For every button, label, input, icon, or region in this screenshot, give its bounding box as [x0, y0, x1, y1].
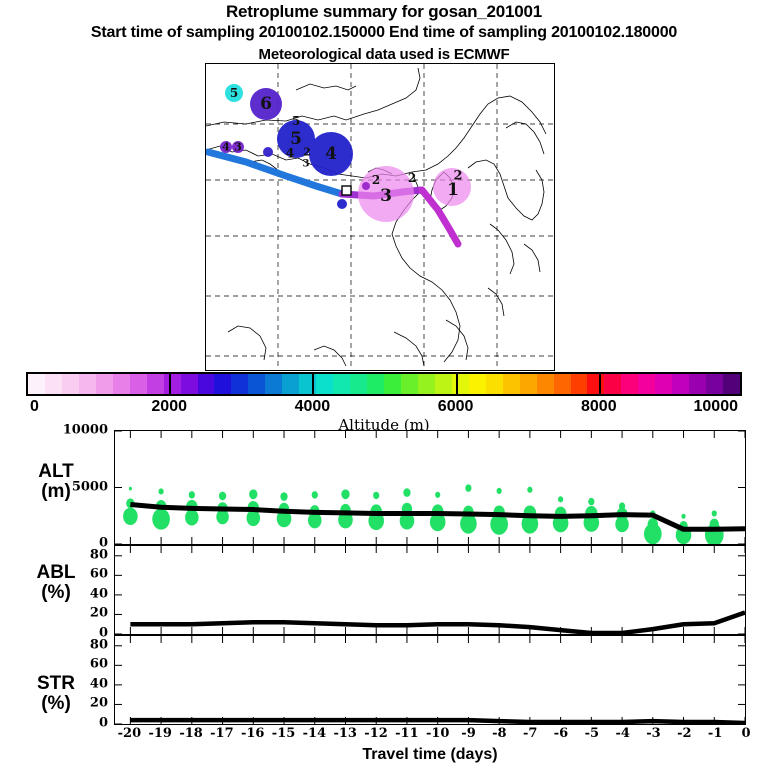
str-panel[interactable]	[114, 635, 746, 725]
y-axis-tick: 80	[48, 637, 108, 652]
colorbar-swatch	[689, 374, 706, 394]
colorbar-swatch	[520, 374, 537, 394]
x-axis-tick: -6	[554, 726, 568, 741]
colorbar-swatch	[198, 374, 215, 394]
x-axis-tick: -4	[615, 726, 629, 741]
svg-text:2: 2	[408, 171, 416, 185]
svg-text:2: 2	[372, 173, 380, 187]
x-axis-tick: -11	[395, 726, 419, 741]
alt-particle-blob	[615, 516, 629, 532]
y-axis-tick: 10000	[48, 423, 108, 438]
colorbar-swatch	[435, 374, 452, 394]
colorbar-swatch	[401, 374, 418, 394]
x-axis-tick: -9	[461, 726, 475, 741]
abl-panel[interactable]	[114, 545, 746, 635]
x-axis-tick: -12	[364, 726, 388, 741]
alt-particle-blob	[129, 487, 132, 491]
y-axis-tick: 0	[48, 716, 108, 731]
page-title: Retroplume summary for gosan_201001	[0, 2, 768, 22]
alt-particle-blob	[219, 492, 226, 501]
colorbar-swatch	[113, 374, 130, 394]
x-axis-tick: 0	[741, 726, 750, 741]
colorbar-swatch	[316, 374, 333, 394]
y-axis-tick: 20	[48, 606, 108, 621]
x-axis-tick: -15	[272, 726, 296, 741]
alt-particle-blob	[644, 523, 662, 544]
colorbar-tick: 4000	[295, 398, 331, 416]
colorbar-swatch	[638, 374, 655, 394]
alt-particle-blob	[280, 492, 287, 501]
colorbar-swatch	[604, 374, 621, 394]
svg-text:4: 4	[325, 144, 337, 164]
x-axis-tick: -10	[426, 726, 450, 741]
colorbar-swatch	[486, 374, 503, 394]
svg-text:2: 2	[303, 146, 311, 159]
alt-particle-blob	[460, 514, 477, 534]
x-axis-tick: -8	[492, 726, 506, 741]
x-axis-tick: -13	[333, 726, 357, 741]
svg-text:6: 6	[260, 94, 272, 114]
colorbar-swatch	[655, 374, 672, 394]
colorbar-swatch	[672, 374, 689, 394]
colorbar-swatch	[469, 374, 486, 394]
colorbar-swatch	[333, 374, 350, 394]
x-axis-label: Travel time (days)	[114, 746, 746, 764]
svg-text:3: 3	[380, 186, 392, 206]
colorbar-swatch	[503, 374, 520, 394]
abl-plot	[115, 546, 745, 634]
colorbar-tick: 2000	[151, 398, 187, 416]
colorbar-swatch	[621, 374, 638, 394]
alt-particle-blob	[465, 484, 471, 491]
alt-particle-blob	[189, 491, 195, 498]
alt-particle-blob	[373, 492, 379, 499]
map-graphics: 1 2 3 4 5 6 5 4 3 4 2 3 5 2 2	[206, 64, 553, 369]
colorbar-swatch	[28, 374, 45, 394]
y-axis-tick: 40	[48, 586, 108, 601]
alt-particle-blob	[527, 487, 532, 493]
colorbar-swatch	[265, 374, 282, 394]
colorbar-tick: 0	[30, 398, 39, 416]
x-axis-tick: -1	[708, 726, 722, 741]
colorbar-swatch	[45, 374, 62, 394]
colorbar-swatch	[554, 374, 571, 394]
alt-particle-blob	[249, 489, 257, 499]
alt-particle-blob	[341, 489, 349, 499]
alt-particle-blob	[216, 509, 228, 524]
y-axis-tick: 60	[48, 657, 108, 672]
x-axis-tick: -3	[646, 726, 660, 741]
colorbar-swatch	[79, 374, 96, 394]
x-axis-tick: -20	[118, 726, 142, 741]
alt-particle-blob	[403, 488, 410, 497]
alt-particle-blob	[712, 510, 717, 516]
colorbar-swatch	[214, 374, 231, 394]
y-axis-tick: 40	[48, 676, 108, 691]
alt-particle-blob	[123, 508, 138, 525]
colorbar-swatch	[418, 374, 435, 394]
svg-text:3: 3	[303, 159, 310, 170]
alt-particle-blob	[588, 498, 594, 505]
colorbar-swatch	[571, 374, 588, 394]
svg-text:5: 5	[230, 86, 238, 100]
svg-text:4: 4	[285, 147, 294, 162]
alt-particle-blob	[312, 491, 318, 498]
x-axis-tick: -2	[677, 726, 691, 741]
colorbar-swatch	[248, 374, 265, 394]
alt-particle-blob	[185, 509, 199, 525]
colorbar-swatch	[147, 374, 164, 394]
y-axis-tick: 60	[48, 567, 108, 582]
svg-text:5: 5	[292, 114, 300, 128]
alt-panel[interactable]	[114, 430, 746, 545]
colorbar-swatch	[587, 374, 604, 394]
colorbar-separator	[456, 372, 458, 396]
y-axis-tick: 80	[48, 547, 108, 562]
svg-text:3: 3	[234, 141, 242, 154]
colorbar-swatch	[62, 374, 79, 394]
alt-particle-blob	[247, 510, 261, 526]
svg-text:2: 2	[453, 169, 462, 184]
y-axis-tick: 5000	[48, 479, 108, 494]
colorbar-tick: 6000	[438, 398, 474, 416]
x-axis-tick: -18	[179, 726, 203, 741]
colorbar-separator	[312, 372, 314, 396]
colorbar-separator	[169, 372, 171, 396]
colorbar-altitude: Altitude (m) 0200040006000800010000	[26, 372, 742, 396]
alt-particle-blob	[681, 514, 685, 519]
colorbar-swatch	[537, 374, 554, 394]
alt-particle-blob	[152, 509, 170, 530]
colorbar-swatch	[723, 374, 740, 394]
colorbar-swatch	[367, 374, 384, 394]
x-axis-tick: -7	[523, 726, 537, 741]
alt-particle-blob	[558, 496, 563, 502]
x-axis-tick: -5	[585, 726, 599, 741]
colorbar-swatch	[384, 374, 401, 394]
colorbar-swatch	[181, 374, 198, 394]
colorbar-gradient	[26, 372, 742, 396]
colorbar-tick: 10000	[694, 398, 739, 416]
x-axis-tick: -19	[148, 726, 172, 741]
release-site-marker	[342, 186, 351, 195]
colorbar-tick: 8000	[581, 398, 617, 416]
colorbar-swatch	[130, 374, 147, 394]
met-data-line: Meteorological data used is ECMWF	[0, 46, 768, 63]
colorbar-swatch	[452, 374, 469, 394]
colorbar-swatch	[282, 374, 299, 394]
alt-particle-blob	[158, 488, 163, 494]
sampling-time-line: Start time of sampling 20100102.150000 E…	[0, 24, 768, 42]
str-plot	[115, 636, 745, 724]
colorbar-swatch	[164, 374, 181, 394]
colorbar-swatch	[350, 374, 367, 394]
svg-text:4: 4	[222, 141, 230, 154]
alt-particle-blob	[497, 488, 502, 494]
x-axis-tick: -17	[210, 726, 234, 741]
y-axis-tick: 20	[48, 696, 108, 711]
retroplume-map[interactable]: 1 2 3 4 5 6 5 4 3 4 2 3 5 2 2	[205, 63, 555, 371]
alt-plot	[115, 431, 745, 544]
colorbar-separator	[599, 372, 601, 396]
x-axis-tick: -16	[241, 726, 265, 741]
colorbar-swatch	[231, 374, 248, 394]
x-axis-tick: -14	[303, 726, 327, 741]
colorbar-swatch	[706, 374, 723, 394]
alt-particle-blob	[435, 492, 440, 498]
colorbar-swatch	[96, 374, 113, 394]
